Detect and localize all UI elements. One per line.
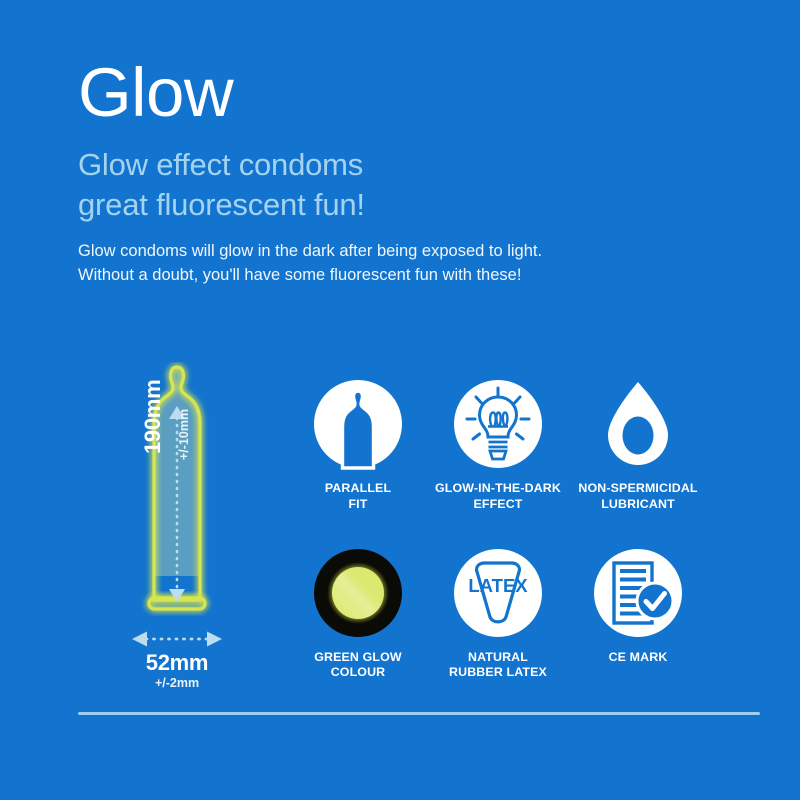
bottom-divider (78, 712, 760, 715)
glowing-orb-icon (312, 547, 404, 639)
feature-glow-in-the-dark: GLOW-IN-THE-DARK EFFECT (428, 378, 568, 513)
feature-label-line-1: PARALLEL (325, 481, 391, 497)
feature-ce-mark: CE MARK (568, 547, 708, 682)
feature-non-spermicidal-lubricant: NON-SPERMICIDAL LUBRICANT (568, 378, 708, 513)
latex-badge-text: LATEX (468, 575, 528, 596)
feature-label-line-2: EFFECT (435, 497, 561, 513)
feature-natural-rubber-latex: LATEX NATURAL RUBBER LATEX (428, 547, 568, 682)
subtitle-line-2: great fluorescent fun! (78, 185, 738, 225)
feature-label: PARALLEL FIT (325, 481, 391, 513)
feature-label: NATURAL RUBBER LATEX (449, 650, 547, 682)
lightbulb-icon (452, 378, 544, 470)
page-title: Glow (78, 58, 738, 127)
condom-outline-icon (312, 378, 404, 470)
width-value: 52mm (118, 650, 236, 676)
feature-label: GREEN GLOW COLOUR (314, 650, 402, 682)
feature-label-line-1: GLOW-IN-THE-DARK (435, 481, 561, 497)
feature-parallel-fit: PARALLEL FIT (288, 378, 428, 513)
feature-label-line-2: COLOUR (314, 665, 402, 681)
feature-label: CE MARK (609, 650, 668, 666)
subtitle: Glow effect condoms great fluorescent fu… (78, 145, 738, 224)
latex-badge-icon: LATEX (452, 547, 544, 639)
measurement-diagram: 190mm +/-10mm 52mm +/-2mm (118, 362, 236, 692)
body-line-2: Without a doubt, you'll have some fluore… (78, 264, 738, 287)
body-line-1: Glow condoms will glow in the dark after… (78, 240, 738, 263)
feature-label-line-1: CE MARK (609, 650, 668, 666)
feature-label: NON-SPERMICIDAL LUBRICANT (578, 481, 697, 513)
feature-label-line-1: NATURAL (449, 650, 547, 666)
water-droplet-icon (592, 378, 684, 470)
feature-label-line-1: NON-SPERMICIDAL (578, 481, 697, 497)
length-tolerance: +/-10mm (177, 409, 191, 460)
feature-icon-grid: PARALLEL FIT (288, 378, 708, 681)
feature-green-glow-colour: GREEN GLOW COLOUR (288, 547, 428, 682)
subtitle-line-1: Glow effect condoms (78, 145, 738, 185)
width-arrow-icon (128, 630, 226, 648)
feature-label-line-2: LUBRICANT (578, 497, 697, 513)
condom-diagram-shape (118, 362, 236, 627)
feature-row-1: PARALLEL FIT (288, 378, 708, 513)
width-tolerance: +/-2mm (118, 676, 236, 690)
length-value: 190mm (140, 380, 166, 454)
body-copy: Glow condoms will glow in the dark after… (78, 240, 738, 287)
feature-label-line-2: RUBBER LATEX (449, 665, 547, 681)
feature-row-2: GREEN GLOW COLOUR LATEX NATURAL RUBBER L… (288, 547, 708, 682)
feature-label-line-2: FIT (325, 497, 391, 513)
document-check-icon (592, 547, 684, 639)
feature-label: GLOW-IN-THE-DARK EFFECT (435, 481, 561, 513)
header-block: Glow Glow effect condoms great fluoresce… (78, 58, 738, 287)
product-infographic: Glow Glow effect condoms great fluoresce… (0, 0, 800, 800)
feature-label-line-1: GREEN GLOW (314, 650, 402, 666)
